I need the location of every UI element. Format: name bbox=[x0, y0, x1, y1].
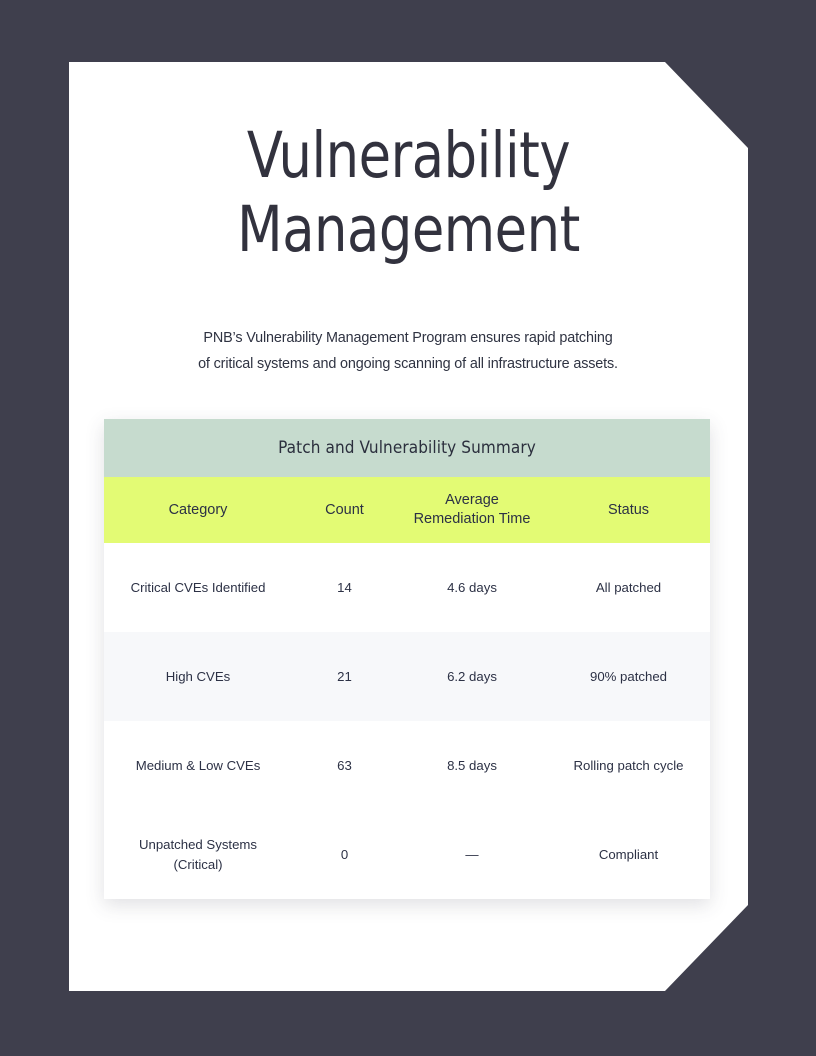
table-row: High CVEs 21 6.2 days 90% patched bbox=[104, 632, 710, 721]
cell-time: 8.5 days bbox=[397, 756, 547, 776]
cell-category: Medium & Low CVEs bbox=[104, 756, 292, 776]
table-row: Unpatched Systems (Critical) 0 — Complia… bbox=[104, 810, 710, 899]
table-title: Patch and Vulnerability Summary bbox=[104, 419, 710, 477]
cell-time: — bbox=[397, 845, 547, 865]
cell-time: 4.6 days bbox=[397, 578, 547, 598]
table-header-row: Category Count Average Remediation Time … bbox=[104, 477, 710, 543]
cell-category: Unpatched Systems (Critical) bbox=[104, 835, 292, 875]
cell-status: Compliant bbox=[547, 845, 710, 865]
cell-status: 90% patched bbox=[547, 667, 710, 687]
cell-count: 0 bbox=[292, 845, 397, 865]
patch-vulnerability-summary-table: Patch and Vulnerability Summary Category… bbox=[104, 419, 710, 899]
column-header-status: Status bbox=[547, 501, 710, 520]
page-title: Vulnerability Management bbox=[93, 119, 724, 267]
cell-category: High CVEs bbox=[104, 667, 292, 687]
column-header-category: Category bbox=[104, 501, 292, 520]
cell-category: Critical CVEs Identified bbox=[104, 578, 292, 598]
column-header-avg-remediation-time: Average Remediation Time bbox=[397, 491, 547, 529]
table-row: Critical CVEs Identified 14 4.6 days All… bbox=[104, 543, 710, 632]
cell-status: Rolling patch cycle bbox=[547, 756, 710, 776]
cell-count: 21 bbox=[292, 667, 397, 687]
cell-count: 14 bbox=[292, 578, 397, 598]
cell-count: 63 bbox=[292, 756, 397, 776]
page-subtitle: PNB’s Vulnerability Management Program e… bbox=[198, 325, 618, 377]
cell-time: 6.2 days bbox=[397, 667, 547, 687]
page-card: Vulnerability Management PNB’s Vulnerabi… bbox=[69, 62, 748, 991]
cell-status: All patched bbox=[547, 578, 710, 598]
column-header-count: Count bbox=[292, 501, 397, 520]
table-row: Medium & Low CVEs 63 8.5 days Rolling pa… bbox=[104, 721, 710, 810]
